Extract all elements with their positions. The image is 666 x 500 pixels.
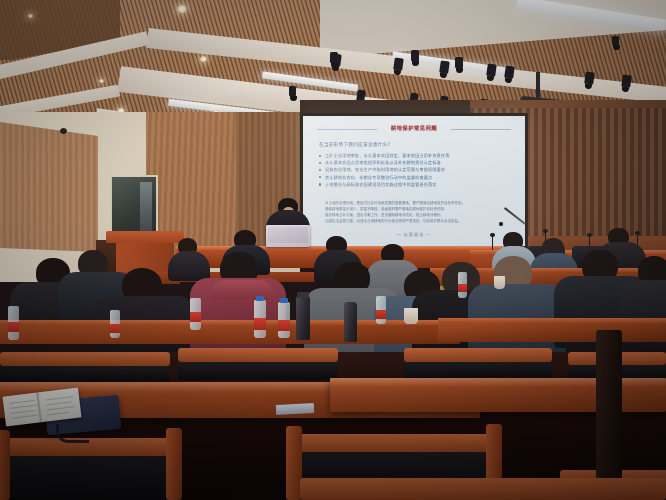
spotlight-icon-8 xyxy=(330,52,338,63)
ceiling-camera-icon xyxy=(60,128,67,134)
downlight-2 xyxy=(200,56,207,62)
attendee-hood xyxy=(210,280,274,300)
screen-glare xyxy=(303,116,525,246)
water-bottle-label-3 xyxy=(8,322,19,332)
water-bottle-label-4 xyxy=(190,312,201,322)
paper-cup-1 xyxy=(404,308,418,324)
water-bottle-label-5 xyxy=(458,284,467,292)
foreground-seatback-1 xyxy=(0,456,180,500)
pointer-tip xyxy=(499,222,503,226)
doorway-glass xyxy=(140,182,152,234)
bench-rail-2 xyxy=(178,348,338,362)
projection-screen: 耕地保护常见问题 在当前形势下我们应该注意什么？ 工矿企业用地审批、永久基本农田… xyxy=(303,116,525,246)
spotlight-icon-5 xyxy=(504,65,515,78)
desk-front-row-right-top xyxy=(438,318,666,323)
downlight-1 xyxy=(177,5,187,13)
papers-on-desk xyxy=(276,403,314,415)
bench-rail-1 xyxy=(0,352,170,366)
attendee-torso xyxy=(168,251,210,281)
thermos-flask-2 xyxy=(344,302,357,342)
spotlight-icon-16 xyxy=(455,57,463,68)
foreground-post-1 xyxy=(0,430,10,500)
bench-seatback-1 xyxy=(0,366,170,382)
laptop-screen xyxy=(268,227,308,243)
water-bottle-cap-2 xyxy=(280,298,288,303)
thermos-cap-1 xyxy=(297,292,309,298)
foreground-rail-bottom xyxy=(300,478,666,500)
bag-strap xyxy=(56,424,89,443)
room-column xyxy=(596,330,622,480)
foreground-rail-2 xyxy=(288,434,500,452)
spotlight-icon-7 xyxy=(621,74,632,87)
bench-seatback-2 xyxy=(178,362,338,380)
bench-rail-3 xyxy=(404,348,552,362)
downlight-5 xyxy=(28,14,33,18)
spotlight-icon-17 xyxy=(289,86,296,96)
spotlight-icon-3 xyxy=(439,60,450,73)
podium-top xyxy=(106,231,184,243)
spotlight-icon-2 xyxy=(393,57,404,70)
thermos-flask-1 xyxy=(296,296,310,340)
water-bottle-label-7 xyxy=(110,324,120,333)
spotlight-icon-4 xyxy=(486,63,497,76)
spotlight-icon-18 xyxy=(612,36,619,45)
left-wall-wood-panel xyxy=(0,122,98,252)
foreground-rail-1 xyxy=(0,438,180,456)
water-bottle-label-1 xyxy=(254,318,266,330)
foreground-post-2 xyxy=(166,428,182,500)
downlight-6 xyxy=(99,79,104,83)
spotlight-icon-15 xyxy=(411,50,419,61)
desk-front-row-top xyxy=(0,320,460,325)
spotlight-icon-6 xyxy=(584,71,595,84)
water-bottle-cap-1 xyxy=(256,296,264,301)
paper-cup-2 xyxy=(494,276,505,289)
water-bottle-label-6 xyxy=(376,310,386,319)
water-bottle-label-2 xyxy=(278,320,290,331)
photo-scene: 耕地保护常见问题 在当前形势下我们应该注意什么？ 工矿企业用地审批、永久基本农田… xyxy=(0,0,666,500)
